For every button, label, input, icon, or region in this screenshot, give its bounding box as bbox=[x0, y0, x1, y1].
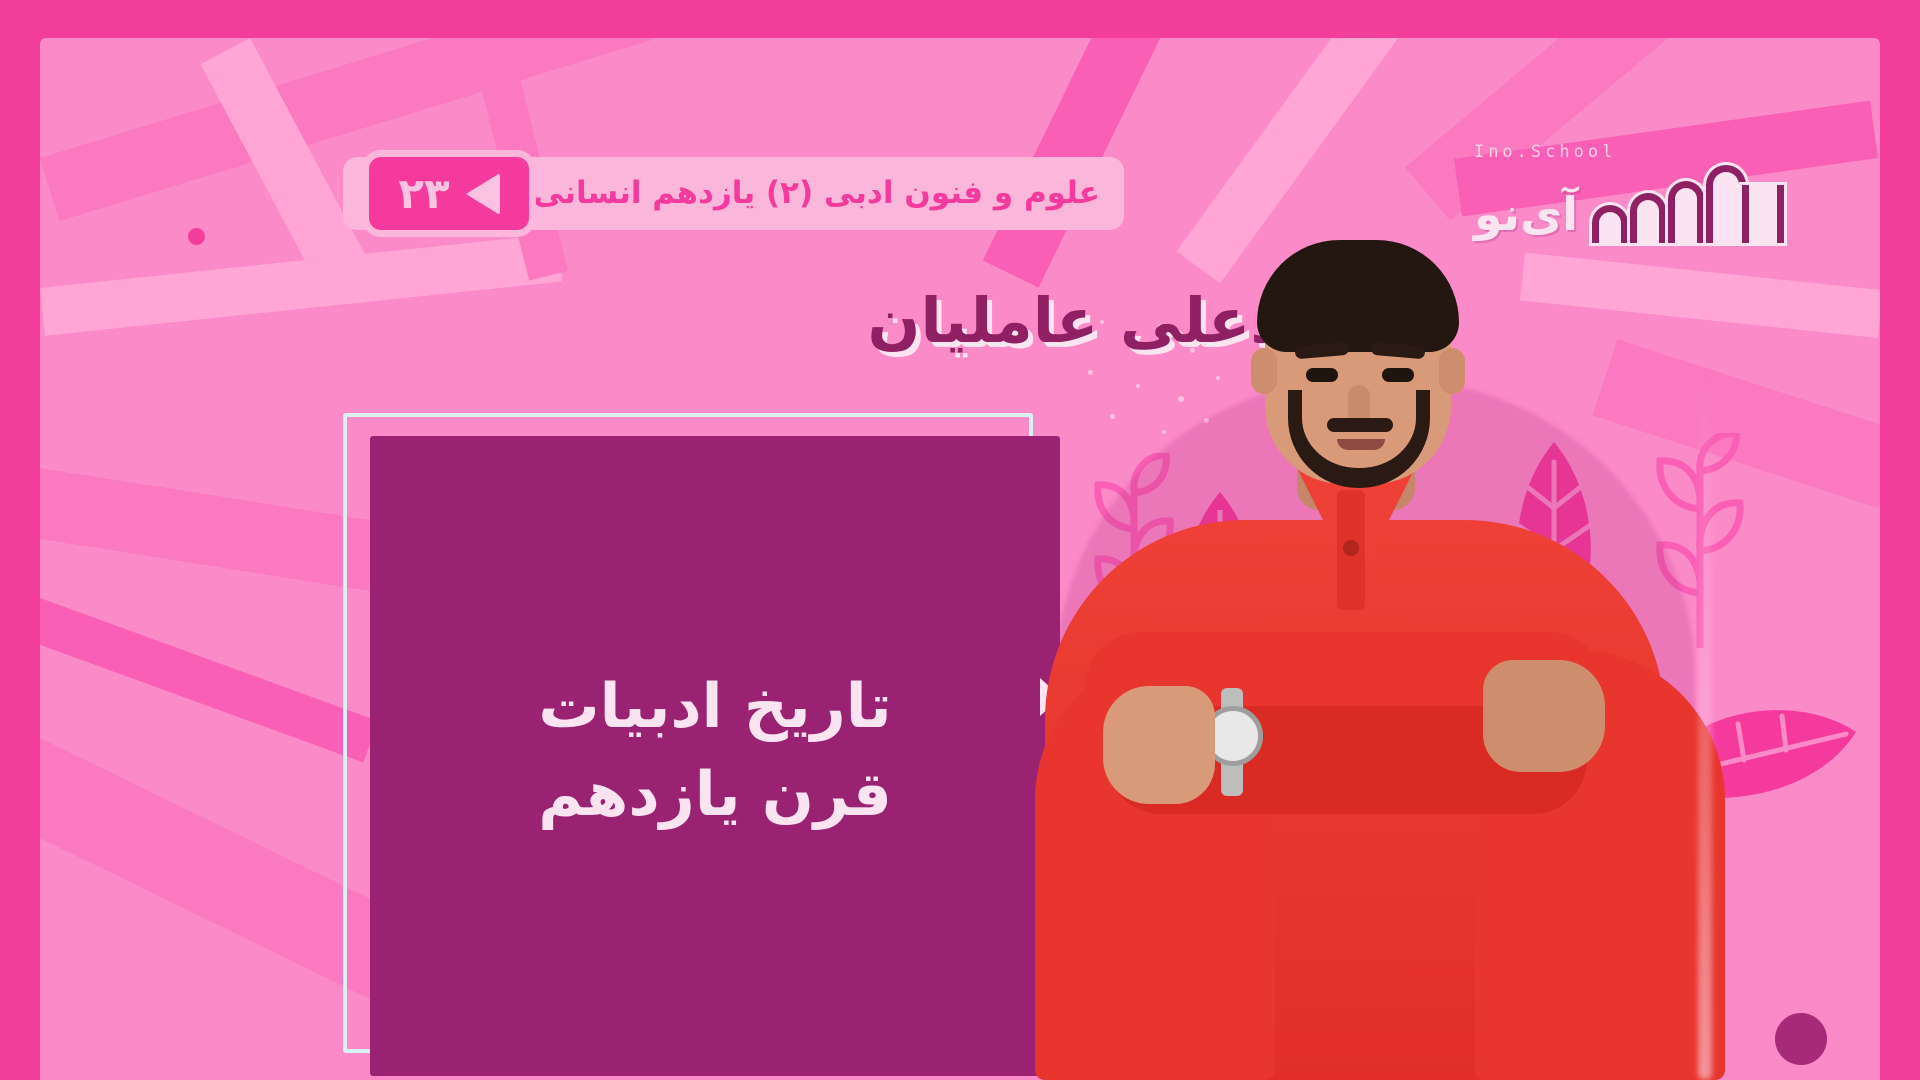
photo-edge-glow bbox=[1698, 380, 1712, 1080]
title-card-text: تاریخ ادبیات قرن یازدهم bbox=[538, 663, 892, 850]
decorative-dot-large bbox=[1775, 1013, 1827, 1065]
bar-chart-logo-icon bbox=[1592, 165, 1784, 243]
instructor-photo bbox=[1045, 240, 1705, 1080]
episode-number: ۲۳ bbox=[398, 173, 449, 215]
brand-logo: Ino.School آی‌نو bbox=[1474, 142, 1784, 243]
inner-panel: ۲۳ علوم و فنون ادبی (۲) یازدهم انسانی سی… bbox=[40, 38, 1880, 1080]
episode-chip[interactable]: ۲۳ bbox=[369, 157, 529, 230]
decorative-dot-small bbox=[188, 228, 205, 245]
title-card: تاریخ ادبیات قرن یازدهم bbox=[370, 436, 1060, 1076]
thumbnail-stage: ۲۳ علوم و فنون ادبی (۲) یازدهم انسانی سی… bbox=[0, 0, 1920, 1080]
episode-badge-row[interactable]: ۲۳ علوم و فنون ادبی (۲) یازدهم انسانی bbox=[343, 157, 1124, 230]
course-title: علوم و فنون ادبی (۲) یازدهم انسانی bbox=[529, 157, 1124, 230]
logo-english-text: Ino.School bbox=[1474, 142, 1616, 162]
logo-persian-text: آی‌نو bbox=[1474, 191, 1578, 243]
play-icon[interactable] bbox=[466, 173, 500, 215]
